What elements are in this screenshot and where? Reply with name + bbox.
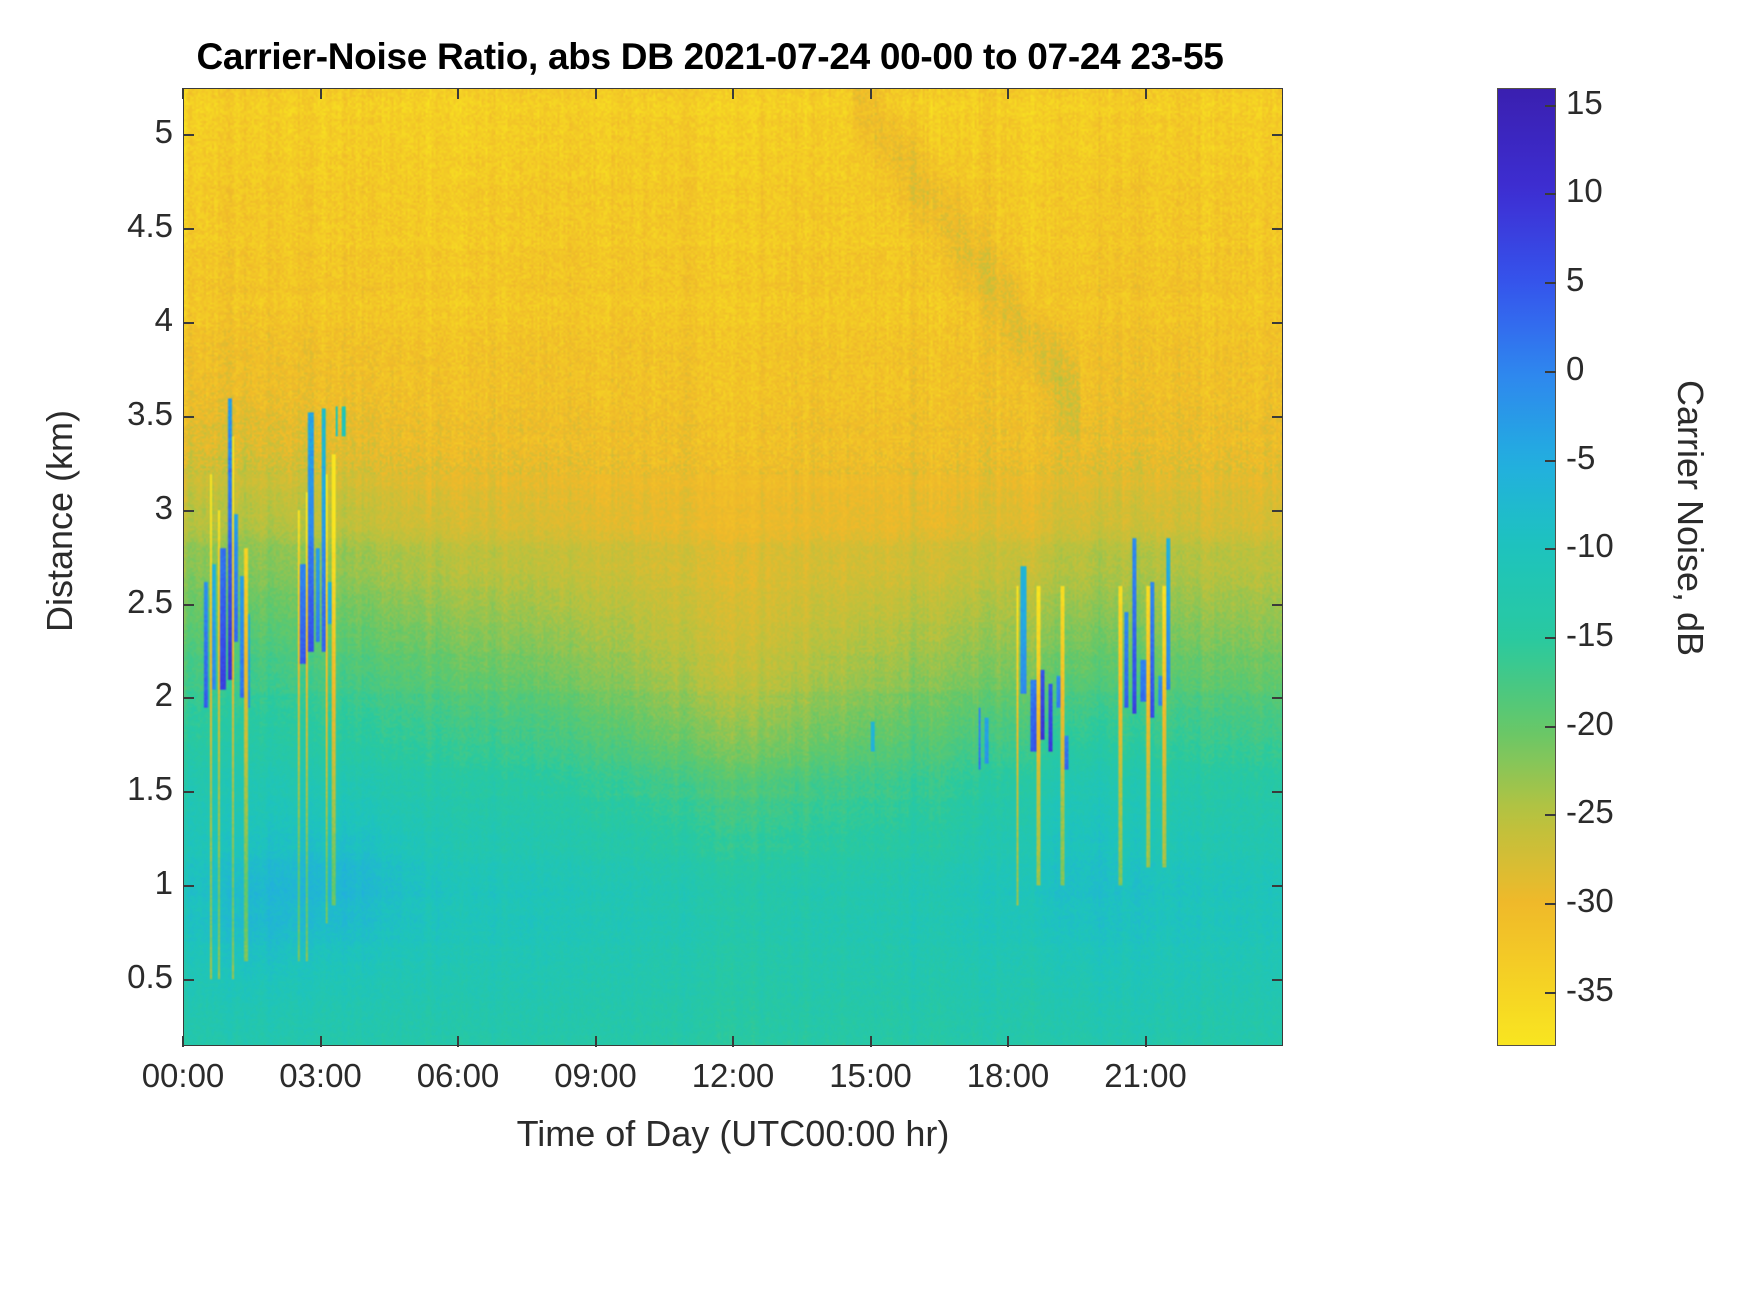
- colorbar-tick: [1545, 548, 1556, 550]
- x-axis-label: Time of Day (UTC00:00 hr): [183, 1113, 1283, 1155]
- chart-title: Carrier-Noise Ratio, abs DB 2021-07-24 0…: [0, 36, 1420, 78]
- colorbar-tick: [1545, 105, 1556, 107]
- colorbar-tick-label: 10: [1566, 172, 1676, 210]
- y-axis-label: Distance (km): [39, 301, 81, 741]
- y-tick: [183, 791, 194, 793]
- colorbar-tick-label: -20: [1566, 705, 1676, 743]
- y-tick: [1272, 510, 1283, 512]
- x-tick: [457, 1036, 459, 1047]
- colorbar-tick-label: -30: [1566, 882, 1676, 920]
- y-tick-label: 0.5: [53, 958, 173, 996]
- y-tick-label: 1.5: [53, 770, 173, 808]
- y-tick-label: 4.5: [53, 207, 173, 245]
- y-tick: [183, 228, 194, 230]
- x-tick-label: 15:00: [791, 1057, 951, 1095]
- x-tick: [182, 1036, 184, 1047]
- heatmap-plot-area: [183, 88, 1283, 1046]
- colorbar-gradient: [1498, 89, 1555, 1045]
- x-tick-label: 00:00: [103, 1057, 263, 1095]
- colorbar-tick: [1545, 726, 1556, 728]
- x-tick-label: 12:00: [653, 1057, 813, 1095]
- colorbar-tick-label: 0: [1566, 350, 1676, 388]
- x-tick: [732, 88, 734, 99]
- x-tick: [1145, 88, 1147, 99]
- colorbar-tick: [1545, 282, 1556, 284]
- colorbar-tick-label: -35: [1566, 971, 1676, 1009]
- y-tick: [183, 979, 194, 981]
- x-tick: [870, 1036, 872, 1047]
- y-tick: [1272, 791, 1283, 793]
- x-tick: [320, 88, 322, 99]
- colorbar-tick-label: 5: [1566, 261, 1676, 299]
- x-tick: [1007, 1036, 1009, 1047]
- x-tick-label: 06:00: [378, 1057, 538, 1095]
- x-tick: [595, 1036, 597, 1047]
- y-tick-label: 5: [53, 113, 173, 151]
- y-tick: [183, 416, 194, 418]
- colorbar-tick-label: -25: [1566, 793, 1676, 831]
- colorbar-tick-label: -10: [1566, 527, 1676, 565]
- x-tick-label: 09:00: [516, 1057, 676, 1095]
- heatmap-image: [184, 89, 1282, 1045]
- colorbar-tick-label: 15: [1566, 84, 1676, 122]
- x-tick: [182, 88, 184, 99]
- y-tick: [1272, 979, 1283, 981]
- y-tick: [183, 885, 194, 887]
- x-tick-label: 18:00: [928, 1057, 1088, 1095]
- colorbar-tick: [1545, 637, 1556, 639]
- y-tick: [183, 510, 194, 512]
- x-tick: [1007, 88, 1009, 99]
- y-tick: [1272, 416, 1283, 418]
- colorbar-tick-label: -5: [1566, 439, 1676, 477]
- y-tick: [1272, 604, 1283, 606]
- y-tick: [1272, 697, 1283, 699]
- y-tick: [183, 134, 194, 136]
- figure-canvas: Carrier-Noise Ratio, abs DB 2021-07-24 0…: [0, 0, 1750, 1313]
- y-tick: [1272, 885, 1283, 887]
- colorbar-tick: [1545, 193, 1556, 195]
- colorbar-tick-label: -15: [1566, 616, 1676, 654]
- colorbar-tick: [1545, 903, 1556, 905]
- y-tick: [183, 604, 194, 606]
- colorbar-tick: [1545, 460, 1556, 462]
- x-tick: [1145, 1036, 1147, 1047]
- x-tick: [320, 1036, 322, 1047]
- x-tick-label: 03:00: [241, 1057, 401, 1095]
- colorbar-tick: [1545, 814, 1556, 816]
- colorbar-label: Carrier Noise, dB: [1669, 298, 1711, 738]
- x-tick: [870, 88, 872, 99]
- y-tick: [1272, 228, 1283, 230]
- y-tick: [1272, 322, 1283, 324]
- x-tick: [732, 1036, 734, 1047]
- y-tick: [1272, 134, 1283, 136]
- y-tick: [183, 697, 194, 699]
- x-tick: [595, 88, 597, 99]
- y-tick-label: 1: [53, 864, 173, 902]
- colorbar-tick: [1545, 371, 1556, 373]
- colorbar-tick: [1545, 992, 1556, 994]
- y-tick: [183, 322, 194, 324]
- x-tick-label: 21:00: [1066, 1057, 1226, 1095]
- x-tick: [457, 88, 459, 99]
